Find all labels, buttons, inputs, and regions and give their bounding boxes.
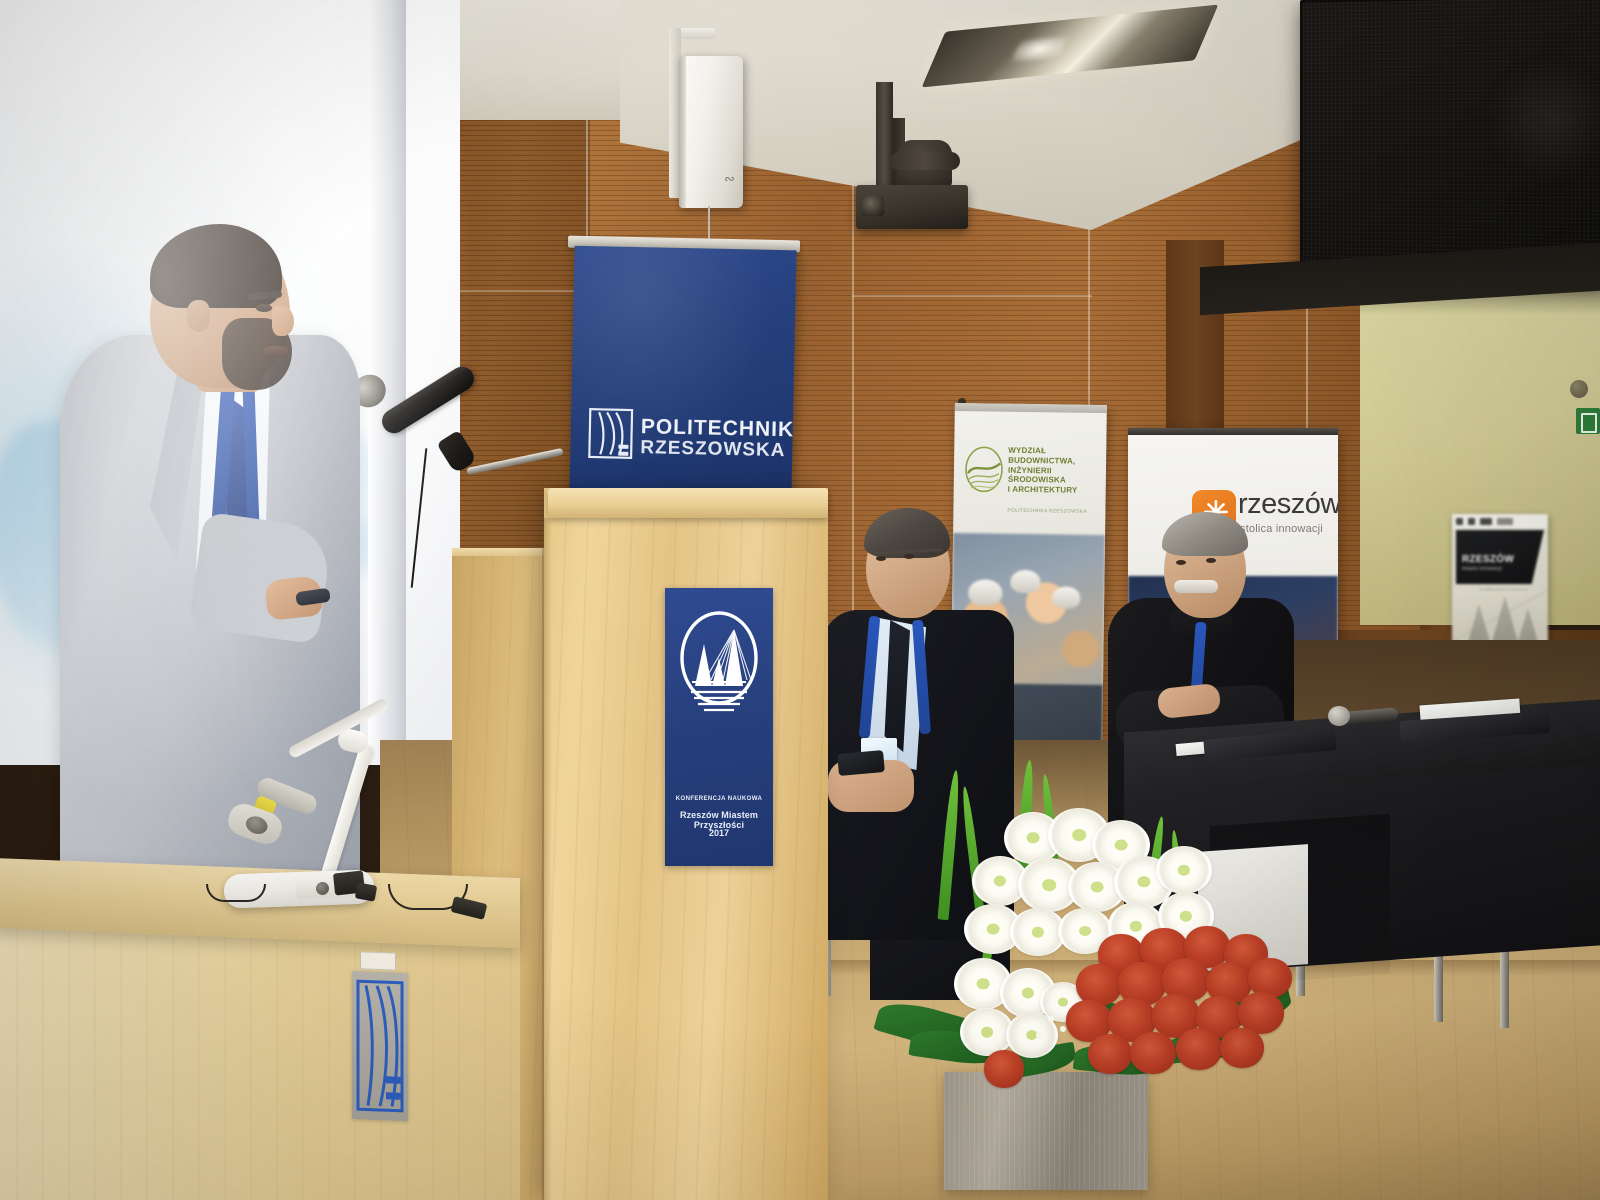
eye [904, 554, 914, 559]
plaque-line-3: 2017 [665, 828, 773, 838]
eye [1206, 558, 1216, 563]
grass-blade [937, 770, 961, 920]
poster-logo-icon [1480, 518, 1492, 525]
exit-sign-icon [1576, 408, 1600, 434]
projector-pole [876, 82, 893, 192]
poster-logo-row [1452, 514, 1548, 528]
cable [206, 884, 266, 902]
front-desk-panel [0, 910, 520, 1200]
poster-logo-icon [1456, 518, 1463, 525]
white-flower [1156, 846, 1212, 894]
red-flower [1220, 1028, 1264, 1068]
faculty-subline: POLITECHNIKA RZESZOWSKA [1007, 508, 1103, 515]
red-flower [1176, 1028, 1222, 1070]
wall-fixture-icon [1570, 380, 1588, 398]
poster-title: RZESZÓW [1462, 554, 1514, 565]
plaque-line-2: Rzeszów Miastem Przyszłości [665, 810, 773, 830]
moustache [1174, 580, 1218, 593]
eye [256, 304, 272, 312]
speaker-brand-mark: ∾ [724, 172, 742, 186]
faculty-line-3: INŻYNIERII ŚRODOWISKA [1008, 465, 1104, 486]
red-flower [984, 1050, 1024, 1088]
poster-subtitle: miasto innowacji [1462, 566, 1502, 572]
panel-glow [1490, 60, 1600, 180]
eye [876, 556, 886, 561]
gypsophila [1036, 1032, 1042, 1038]
banner-institution-text: POLITECHNIKA RZESZOWSKA [640, 416, 791, 462]
podium-plaque: KONFERENCJA NAUKOWA Rzeszów Miastem Przy… [665, 588, 773, 866]
speaker-cable [708, 206, 710, 242]
desk-label-plate [360, 951, 396, 970]
lectern-top-surface [548, 488, 828, 518]
wall-seam [852, 295, 1092, 297]
gypsophila [1192, 920, 1198, 926]
nose [272, 306, 294, 336]
projector-lens-icon [862, 196, 884, 216]
gypsophila [1060, 1026, 1066, 1032]
rzeszow-wordmark: rzeszów [1238, 488, 1338, 521]
gypsophila [1048, 1016, 1054, 1022]
rzeszow-tagline: stolica innowacji [1240, 523, 1323, 535]
poster-illustration [1452, 590, 1548, 642]
red-flower [1130, 1032, 1176, 1074]
cable-plug [355, 882, 377, 901]
lecture-hall-photo: ∾ POLITECHNIKA RZESZOWSKA [0, 0, 1600, 1200]
flower-arrangement [860, 760, 1300, 1100]
lectern-edge-shadow [542, 518, 552, 1200]
screen-frame [392, 0, 406, 765]
faculty-line-2: BUDOWNICTWA, [1008, 455, 1104, 466]
poster-logo-icon [1497, 518, 1513, 525]
prz-monogram-logo [588, 408, 633, 459]
desk-emblem-plate [352, 971, 408, 1121]
ear [186, 300, 210, 332]
eye [1176, 560, 1186, 565]
rzeszow-bridge-logo [679, 610, 759, 720]
plaque-line-1: KONFERENCJA NAUKOWA [665, 796, 773, 802]
politechnika-banner: POLITECHNIKA RZESZOWSKA [569, 246, 796, 499]
faculty-name: WYDZIAŁ BUDOWNICTWA, INŻYNIERII ŚRODOWIS… [1008, 446, 1105, 496]
prz-blue-emblem-icon [352, 971, 408, 1121]
mouth [264, 346, 288, 357]
microphone-head-icon [1328, 706, 1350, 726]
faculty-leaf-logo [964, 445, 1005, 494]
projector-mount-head [898, 140, 952, 188]
rollup-top-bar [1128, 428, 1338, 435]
banner-line-2: RZESZOWSKA [640, 439, 790, 463]
red-flower [1088, 1034, 1132, 1074]
wall-poster: RZESZÓW miasto innowacji konferencja nau… [1452, 514, 1548, 656]
poster-logo-icon [1468, 518, 1475, 525]
rollup-top-bar [955, 403, 1107, 413]
faculty-line-4: I ARCHITEKTURY [1008, 485, 1104, 496]
